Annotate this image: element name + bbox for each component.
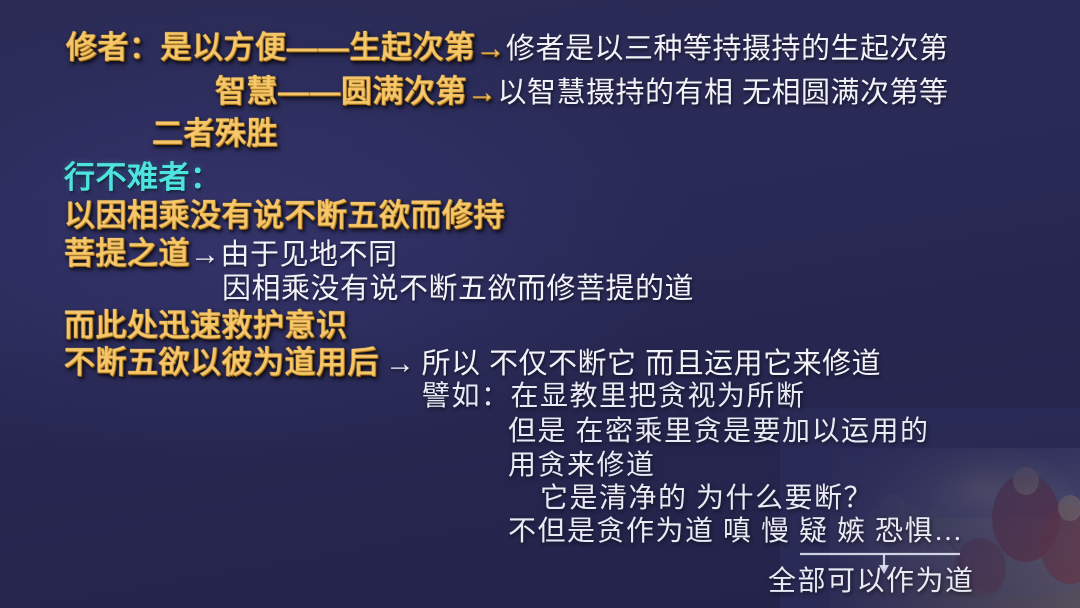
top-line-3: 二者殊胜 (152, 118, 278, 149)
top-line-2-arrow-icon: → (467, 76, 498, 109)
top-line-2-gold: 智慧——圆满次第 (215, 74, 467, 109)
main-line-2-gold: 菩提之道 (64, 236, 190, 271)
main-line-1-gold: 以因相乘没有说不断五欲而修持 (64, 198, 505, 233)
top-line-1-arrow-icon: → (476, 32, 507, 65)
main-line-3: 因相乘没有说不断五欲而修菩提的道 (222, 275, 694, 304)
top-line-2: 智慧——圆满次第→以智慧摄持的有相 无相圆满次第等 (215, 76, 949, 108)
example-line-3: 用贪来修道 (508, 452, 656, 480)
top-line-1-white: 修者是以三种等持摄持的生起次第 (506, 33, 949, 65)
main-line-2-white: 由于见地不同 (221, 239, 398, 271)
example-line-2: 但是 在密乘里贪是要加以运用的 (508, 418, 930, 446)
main-line-5-arrow-icon: → (379, 347, 422, 380)
example-line-5: 不但是贪作为道 嗔 慢 疑 嫉 恐惧… (508, 518, 964, 546)
main-line-5-white: 所以 不仅不断它 而且运用它来修道 (422, 348, 882, 380)
example-line-6: 全部可以作为道 (768, 568, 975, 596)
top-line-2-white: 以智慧摄持的有相 无相圆满次第等 (498, 77, 949, 109)
slide-canvas: 修者：是以方便——生起次第→修者是以三种等持摄持的生起次第 智慧——圆满次第→以… (0, 0, 1080, 608)
main-line-2-arrow-icon: → (190, 238, 221, 271)
main-line-2: 菩提之道→由于见地不同 (64, 238, 398, 270)
main-line-5: 不断五欲以彼为道用后→所以 不仅不断它 而且运用它来修道 (64, 347, 881, 379)
main-heading-text: 行不难者： (64, 160, 222, 195)
main-heading: 行不难者： (64, 162, 222, 193)
main-line-5-gold: 不断五欲以彼为道用后 (64, 345, 379, 380)
main-line-1: 以因相乘没有说不断五欲而修持 (64, 200, 505, 231)
example-line-4: 它是清净的 为什么要断？ (540, 485, 873, 513)
main-line-3-white: 因相乘没有说不断五欲而修菩提的道 (222, 273, 694, 305)
example-line-1: 譬如：在显教里把贪视为所断 (422, 383, 806, 411)
top-line-1-gold: 修者：是以方便——生起次第 (66, 30, 476, 65)
top-line-1: 修者：是以方便——生起次第→修者是以三种等持摄持的生起次第 (66, 32, 949, 64)
text-layer: 修者：是以方便——生起次第→修者是以三种等持摄持的生起次第 智慧——圆满次第→以… (0, 0, 1080, 608)
main-line-4-gold: 而此处迅速救护意识 (64, 308, 348, 343)
main-line-4: 而此处迅速救护意识 (64, 310, 348, 341)
top-line-3-gold: 二者殊胜 (152, 116, 278, 151)
